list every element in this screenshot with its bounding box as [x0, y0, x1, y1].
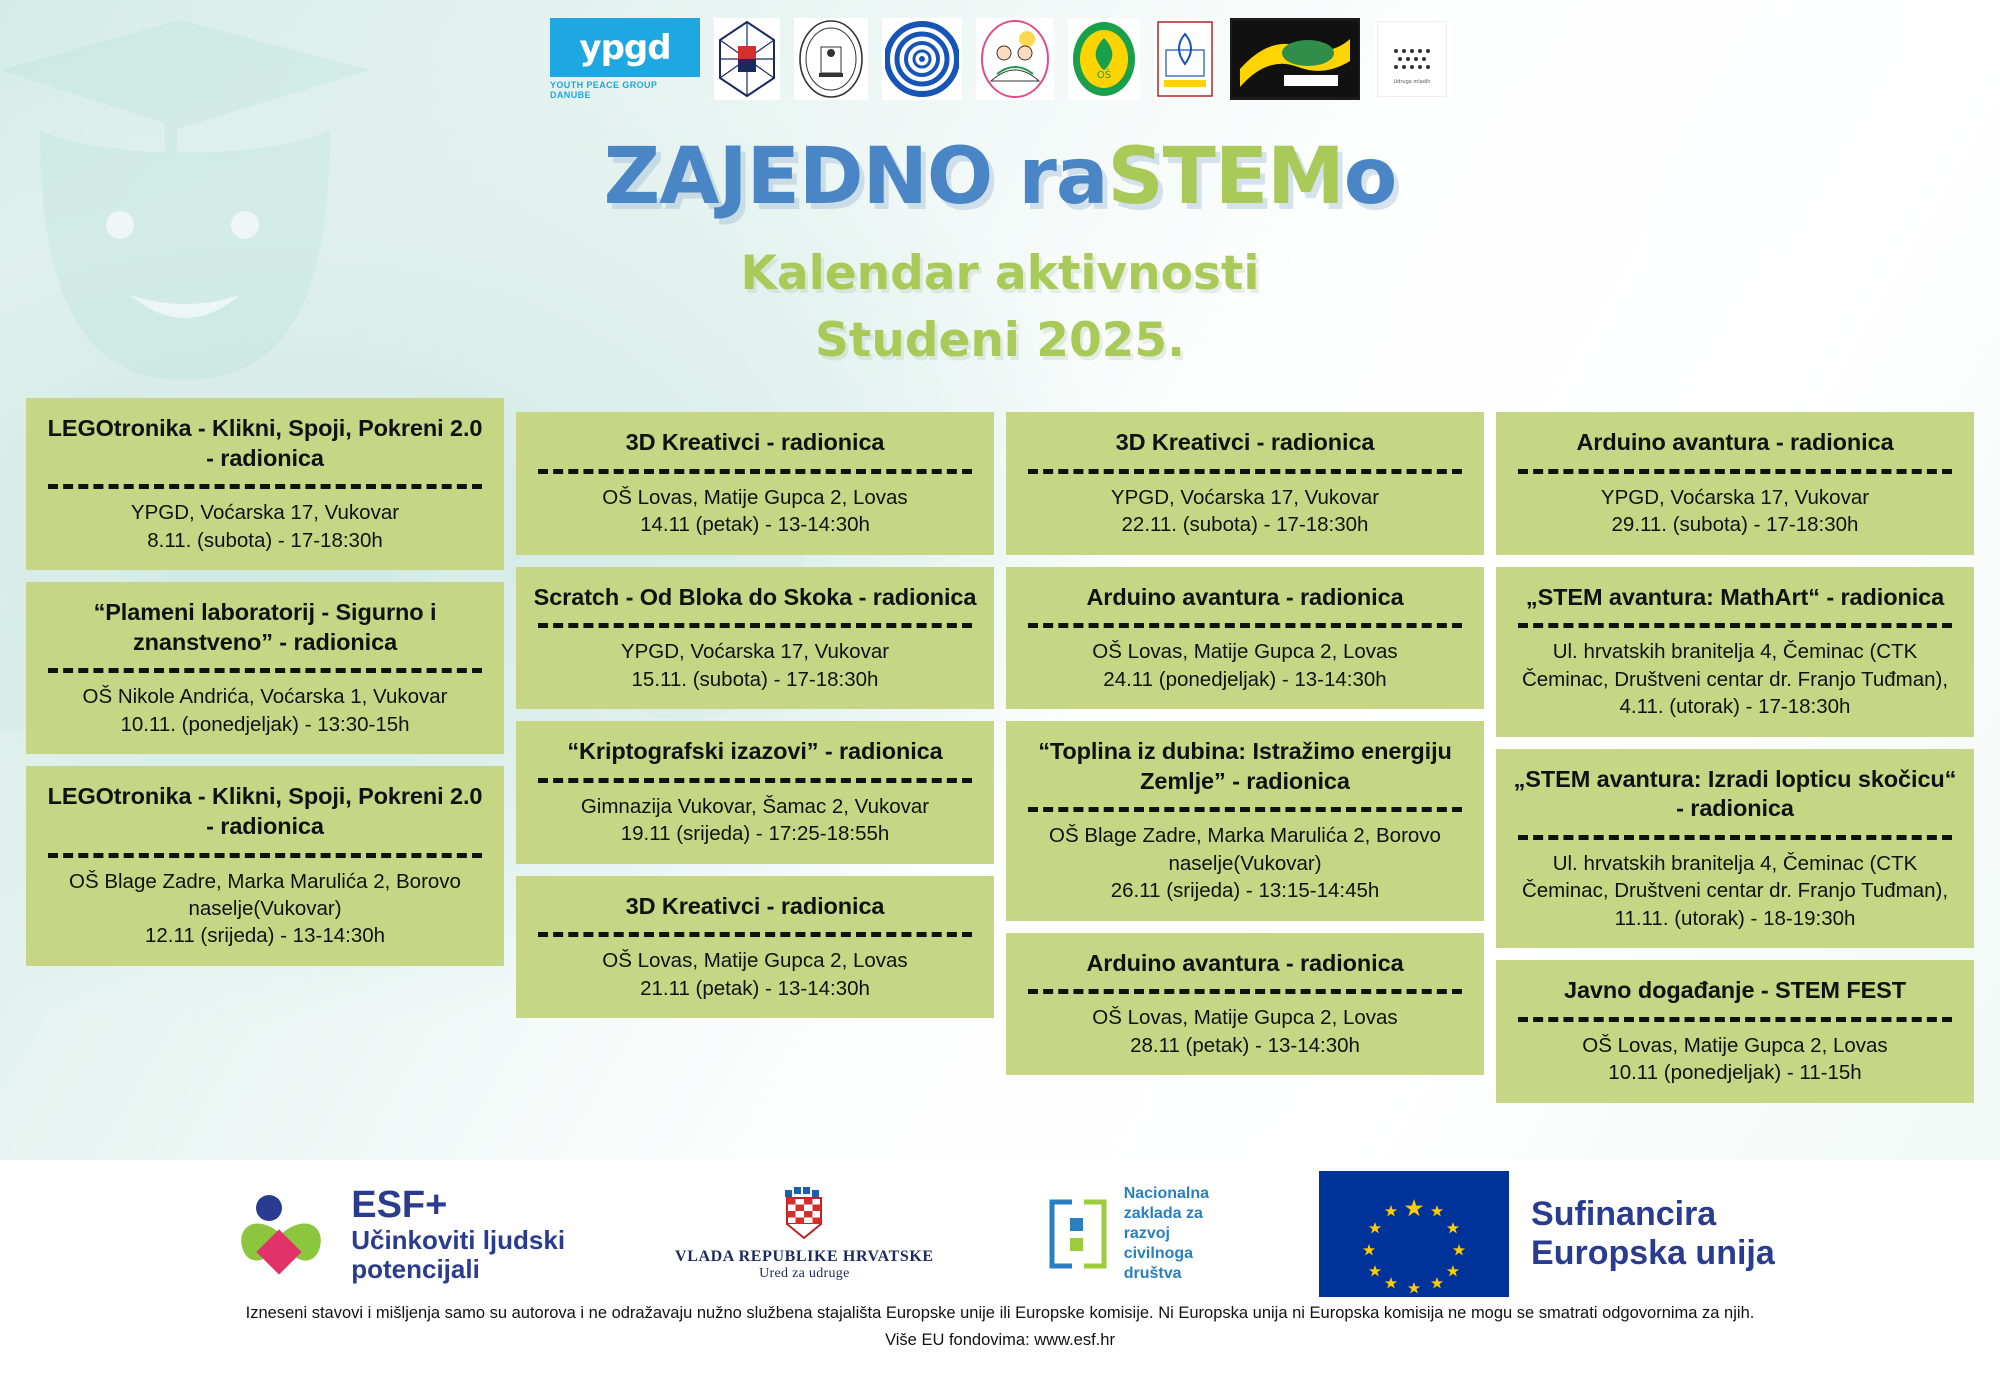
activities-column-2: 3D Kreativci - radionica OŠ Lovas, Matij… — [516, 412, 994, 1018]
esf-line-2: potencijali — [351, 1255, 565, 1284]
esf-line-1: Učinkoviti ljudski — [351, 1226, 565, 1255]
nzrcd-line-2: zaklada za — [1124, 1204, 1209, 1224]
title-word-o: o — [1344, 132, 1397, 222]
activity-datetime: 8.11. (subota) - 17-18:30h — [42, 527, 488, 554]
nzrcd-line-3: razvoj — [1124, 1224, 1209, 1244]
poster-root: ypgd YOUTH PEACE GROUP DANUBE — [0, 0, 2000, 1381]
page-title: ZAJEDNO raSTEMo — [0, 138, 2000, 216]
footer-logos-row: ESF+ Učinkoviti ljudski potencijali — [0, 1174, 2000, 1294]
dashed-divider — [538, 932, 972, 937]
dashed-divider — [1518, 469, 1952, 474]
activity-card[interactable]: Scratch - Od Bloka do Skoka - radionica … — [516, 567, 994, 710]
activity-datetime: 21.11 (petak) - 13-14:30h — [532, 975, 978, 1002]
disclaimer-line-2: Više EU fondovima: www.esf.hr — [0, 1327, 2000, 1353]
activity-card[interactable]: “Toplina iz dubina: Istražimo energiju Z… — [1006, 721, 1484, 921]
activity-card[interactable]: Arduino avantura - radionica YPGD, Voćar… — [1496, 412, 1974, 555]
activity-datetime: 10.11. (ponedjeljak) - 13:30-15h — [42, 711, 488, 738]
activity-datetime: 19.11 (srijeda) - 17:25-18:55h — [532, 820, 978, 847]
dashed-divider — [1518, 1017, 1952, 1022]
activity-location: Ul. hrvatskih branitelja 4, Čeminac (CTK… — [1512, 850, 1958, 905]
activity-title: Arduino avantura - radionica — [1022, 949, 1468, 979]
activity-card[interactable]: 3D Kreativci - radionica OŠ Lovas, Matij… — [516, 412, 994, 555]
activity-card[interactable]: „STEM avantura: Izradi lopticu skočicu“ … — [1496, 749, 1974, 949]
os-blage-zadre-logo: OŠ — [1068, 18, 1140, 100]
activity-title: Arduino avantura - radionica — [1512, 428, 1958, 458]
os-nikole-andrica-logo — [976, 18, 1054, 100]
dashed-divider — [1028, 469, 1462, 474]
activity-title: Scratch - Od Bloka do Skoka - radionica — [532, 583, 978, 613]
activity-datetime: 22.11. (subota) - 17-18:30h — [1022, 511, 1468, 538]
esf-plus-label: ESF+ — [351, 1184, 565, 1227]
eu-line-1: Sufinancira — [1531, 1195, 1775, 1234]
activity-card[interactable]: Arduino avantura - radionica OŠ Lovas, M… — [1006, 567, 1484, 710]
dashed-divider — [48, 668, 482, 673]
activity-location: OŠ Nikole Andrića, Voćarska 1, Vukovar — [42, 683, 488, 710]
nzrcd-line-1: Nacionalna — [1124, 1184, 1209, 1204]
activity-datetime: 14.11 (petak) - 13-14:30h — [532, 511, 978, 538]
activity-location: Gimnazija Vukovar, Šamac 2, Vukovar — [532, 793, 978, 820]
activity-location: OŠ Blage Zadre, Marka Marulića 2, Borovo… — [42, 868, 488, 923]
activity-location: Ul. hrvatskih branitelja 4, Čeminac (CTK… — [1512, 638, 1958, 693]
vlada-line-1: VLADA REPUBLIKE HRVATSKE — [675, 1248, 934, 1266]
activities-column-4: Arduino avantura - radionica YPGD, Voćar… — [1496, 412, 1974, 1103]
activity-title: 3D Kreativci - radionica — [532, 428, 978, 458]
disclaimer-line-1: Izneseni stavovi i mišljenja samo su aut… — [0, 1300, 2000, 1326]
hexagon-logo — [714, 18, 780, 100]
activity-datetime: 15.11. (subota) - 17-18:30h — [532, 666, 978, 693]
activity-location: OŠ Lovas, Matije Gupca 2, Lovas — [532, 484, 978, 511]
activity-location: YPGD, Voćarska 17, Vukovar — [532, 638, 978, 665]
activity-card[interactable]: LEGOtronika - Klikni, Spoji, Pokreni 2.0… — [26, 398, 504, 570]
activity-title: “Kriptografski izazovi” - radionica — [532, 737, 978, 767]
dots-logo: Udruga mladih — [1374, 18, 1450, 100]
vlada-text-block: VLADA REPUBLIKE HRVATSKE Ured za udruge — [675, 1248, 934, 1282]
title-word-zajedno: ZAJEDNO — [604, 132, 993, 222]
activity-card[interactable]: Arduino avantura - radionica OŠ Lovas, M… — [1006, 933, 1484, 1076]
dashed-divider — [48, 853, 482, 858]
activity-card[interactable]: „STEM avantura: MathArt“ - radionica Ul.… — [1496, 567, 1974, 737]
dashed-divider — [1028, 623, 1462, 628]
activities-column-1: LEGOtronika - Klikni, Spoji, Pokreni 2.0… — [26, 398, 504, 966]
activity-datetime: 4.11. (utorak) - 17-18:30h — [1512, 693, 1958, 720]
dashed-divider — [1028, 807, 1462, 812]
activity-card[interactable]: Javno događanje - STEM FEST OŠ Lovas, Ma… — [1496, 960, 1974, 1103]
activity-title: “Plameni laboratorij - Sigurno i znanstv… — [42, 598, 488, 657]
spiral-target-logo — [882, 18, 962, 100]
svg-text:OŠ: OŠ — [1097, 68, 1111, 81]
dashed-divider — [538, 623, 972, 628]
title-word-stem: STEM — [1107, 132, 1343, 222]
activity-title: “Toplina iz dubina: Istražimo energiju Z… — [1022, 737, 1468, 796]
activity-datetime: 24.11 (ponedjeljak) - 13-14:30h — [1022, 666, 1468, 693]
activity-title: 3D Kreativci - radionica — [1022, 428, 1468, 458]
eu-flag-icon — [1319, 1171, 1509, 1297]
ypgd-logo-mark: ypgd — [550, 18, 700, 77]
nacionalna-zaklada-logo: Nacionalna zaklada za razvoj civilnoga d… — [1044, 1184, 1209, 1284]
activity-card[interactable]: LEGOtronika - Klikni, Spoji, Pokreni 2.0… — [26, 766, 504, 966]
activity-datetime: 26.11 (srijeda) - 13:15-14:45h — [1022, 877, 1468, 904]
bracket-icon — [1044, 1196, 1110, 1272]
activity-location: OŠ Lovas, Matije Gupca 2, Lovas — [1512, 1032, 1958, 1059]
dashed-divider — [538, 778, 972, 783]
activity-datetime: 29.11. (subota) - 17-18:30h — [1512, 511, 1958, 538]
activity-title: 3D Kreativci - radionica — [532, 892, 978, 922]
university-osijek-logo — [794, 18, 868, 100]
dashed-divider — [538, 469, 972, 474]
activity-title: LEGOtronika - Klikni, Spoji, Pokreni 2.0… — [42, 782, 488, 841]
activity-location: OŠ Lovas, Matije Gupca 2, Lovas — [1022, 1004, 1468, 1031]
gimnazija-vukovar-logo — [1154, 18, 1216, 100]
footer: ESF+ Učinkoviti ljudski potencijali — [0, 1160, 2000, 1381]
activity-location: YPGD, Voćarska 17, Vukovar — [1022, 484, 1468, 511]
activity-title: Javno događanje - STEM FEST — [1512, 976, 1958, 1006]
activity-location: OŠ Lovas, Matije Gupca 2, Lovas — [1022, 638, 1468, 665]
croatia-coat-of-arms-icon — [781, 1186, 827, 1242]
dashed-divider — [1518, 835, 1952, 840]
disclaimer-block: Izneseni stavovi i mišljenja samo su aut… — [0, 1300, 2000, 1353]
activity-datetime: 12.11 (srijeda) - 13-14:30h — [42, 922, 488, 949]
activity-card[interactable]: “Kriptografski izazovi” - radionica Gimn… — [516, 721, 994, 864]
activity-datetime: 10.11 (ponedjeljak) - 11-15h — [1512, 1059, 1958, 1086]
svg-text:Udruga mladih: Udruga mladih — [1394, 79, 1431, 85]
vlada-line-2: Ured za udruge — [675, 1266, 934, 1282]
ypgd-logo-text: ypgd — [579, 28, 670, 68]
dashed-divider — [1028, 989, 1462, 994]
esf-plus-logo: ESF+ Učinkoviti ljudski potencijali — [225, 1178, 565, 1290]
dashed-divider — [1518, 623, 1952, 628]
activity-title: Arduino avantura - radionica — [1022, 583, 1468, 613]
activity-card[interactable]: 3D Kreativci - radionica OŠ Lovas, Matij… — [516, 876, 994, 1019]
partner-logos-row: ypgd YOUTH PEACE GROUP DANUBE — [0, 18, 2000, 100]
eu-text-block: Sufinancira Europska unija — [1531, 1195, 1775, 1273]
nzrcd-line-5: društva — [1124, 1264, 1209, 1284]
dashed-divider — [48, 484, 482, 489]
activity-datetime: 11.11. (utorak) - 18-19:30h — [1512, 905, 1958, 932]
activity-location: YPGD, Voćarska 17, Vukovar — [1512, 484, 1958, 511]
nzrcd-text-block: Nacionalna zaklada za razvoj civilnoga d… — [1124, 1184, 1209, 1284]
vlada-rh-logo: VLADA REPUBLIKE HRVATSKE Ured za udruge — [675, 1186, 934, 1282]
dark-banner-logo — [1230, 18, 1360, 100]
activity-title: „STEM avantura: Izradi lopticu skočicu“ … — [1512, 765, 1958, 824]
ypgd-logo-caption: YOUTH PEACE GROUP DANUBE — [550, 80, 700, 100]
title-word-ra: ra — [1018, 132, 1107, 222]
activities-grid: LEGOtronika - Klikni, Spoji, Pokreni 2.0… — [26, 398, 1974, 1103]
esf-flower-icon — [225, 1178, 337, 1290]
esf-text-block: ESF+ Učinkoviti ljudski potencijali — [351, 1184, 565, 1285]
page-month: Studeni 2025. — [0, 313, 2000, 368]
eu-line-2: Europska unija — [1531, 1234, 1775, 1273]
ypgd-logo: ypgd YOUTH PEACE GROUP DANUBE — [550, 18, 700, 100]
activity-location: OŠ Blage Zadre, Marka Marulića 2, Borovo… — [1022, 822, 1468, 877]
activity-card[interactable]: 3D Kreativci - radionica YPGD, Voćarska … — [1006, 412, 1484, 555]
activity-location: OŠ Lovas, Matije Gupca 2, Lovas — [532, 947, 978, 974]
activity-location: YPGD, Voćarska 17, Vukovar — [42, 499, 488, 526]
nzrcd-line-4: civilnoga — [1124, 1244, 1209, 1264]
activity-card[interactable]: “Plameni laboratorij - Sigurno i znanstv… — [26, 582, 504, 754]
eu-cofunding-logo: Sufinancira Europska unija — [1319, 1171, 1775, 1297]
page-subtitle: Kalendar aktivnosti — [0, 246, 2000, 301]
activity-title: „STEM avantura: MathArt“ - radionica — [1512, 583, 1958, 613]
activity-title: LEGOtronika - Klikni, Spoji, Pokreni 2.0… — [42, 414, 488, 473]
activities-column-3: 3D Kreativci - radionica YPGD, Voćarska … — [1006, 412, 1484, 1075]
activity-datetime: 28.11 (petak) - 13-14:30h — [1022, 1032, 1468, 1059]
